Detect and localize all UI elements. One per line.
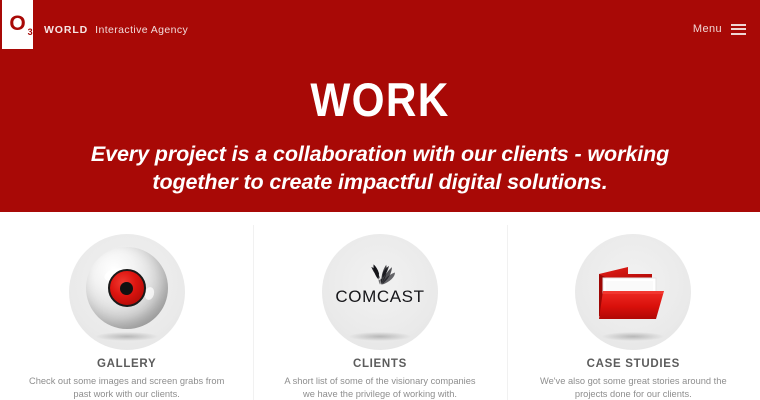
card-title: CASE STUDIES [507, 358, 760, 370]
brand-world-label: WORLD [44, 24, 88, 36]
page-title: WORK [38, 76, 722, 123]
site-header: O 3 WORLDInteractive Agency Menu [0, 0, 760, 50]
folder-icon [594, 261, 673, 324]
clients-icon-wrap: COMCAST [322, 234, 438, 350]
site-logo[interactable]: O 3 [2, 0, 33, 49]
card-description: We've also got some great stories around… [531, 375, 736, 400]
comcast-wordmark: COMCAST [322, 287, 438, 307]
card-title: CLIENTS [253, 358, 506, 370]
hamburger-icon[interactable] [731, 24, 746, 35]
logo-o-mark: O 3 [9, 13, 25, 34]
card-case-studies[interactable]: CASE STUDIES We've also got some great s… [507, 212, 760, 400]
card-description: A short list of some of the visionary co… [277, 375, 482, 400]
icon-drop-shadow [602, 332, 664, 341]
case-studies-icon-wrap [575, 234, 691, 350]
icon-drop-shadow [349, 332, 411, 341]
nbc-peacock-icon [365, 264, 395, 285]
menu-label: Menu [693, 23, 722, 35]
logo-letter: O [9, 12, 25, 35]
card-clients[interactable]: COMCAST CLIENTS A short list of some of … [253, 212, 506, 400]
eye-iris-icon [108, 269, 146, 307]
comcast-logo-icon: COMCAST [322, 264, 438, 307]
icon-drop-shadow [96, 332, 158, 341]
feature-cards: GALLERY Check out some images and screen… [0, 212, 760, 400]
brand-wordmark[interactable]: WORLDInteractive Agency [44, 24, 188, 36]
card-gallery[interactable]: GALLERY Check out some images and screen… [0, 212, 253, 400]
logo-subscript: 3 [28, 28, 33, 37]
eye-pupil-icon [120, 282, 133, 295]
hero-banner: O 3 WORLDInteractive Agency Menu WORK Ev… [0, 0, 760, 212]
card-title: GALLERY [0, 358, 253, 370]
card-description: Check out some images and screen grabs f… [24, 375, 229, 400]
menu-toggle[interactable]: Menu [693, 23, 746, 35]
brand-tagline-label: Interactive Agency [95, 24, 188, 36]
eyeball-icon [86, 247, 168, 329]
gallery-icon-wrap [69, 234, 185, 350]
page-root: O 3 WORLDInteractive Agency Menu WORK Ev… [0, 0, 760, 400]
hero-subtitle: Every project is a collaboration with ou… [80, 141, 680, 196]
